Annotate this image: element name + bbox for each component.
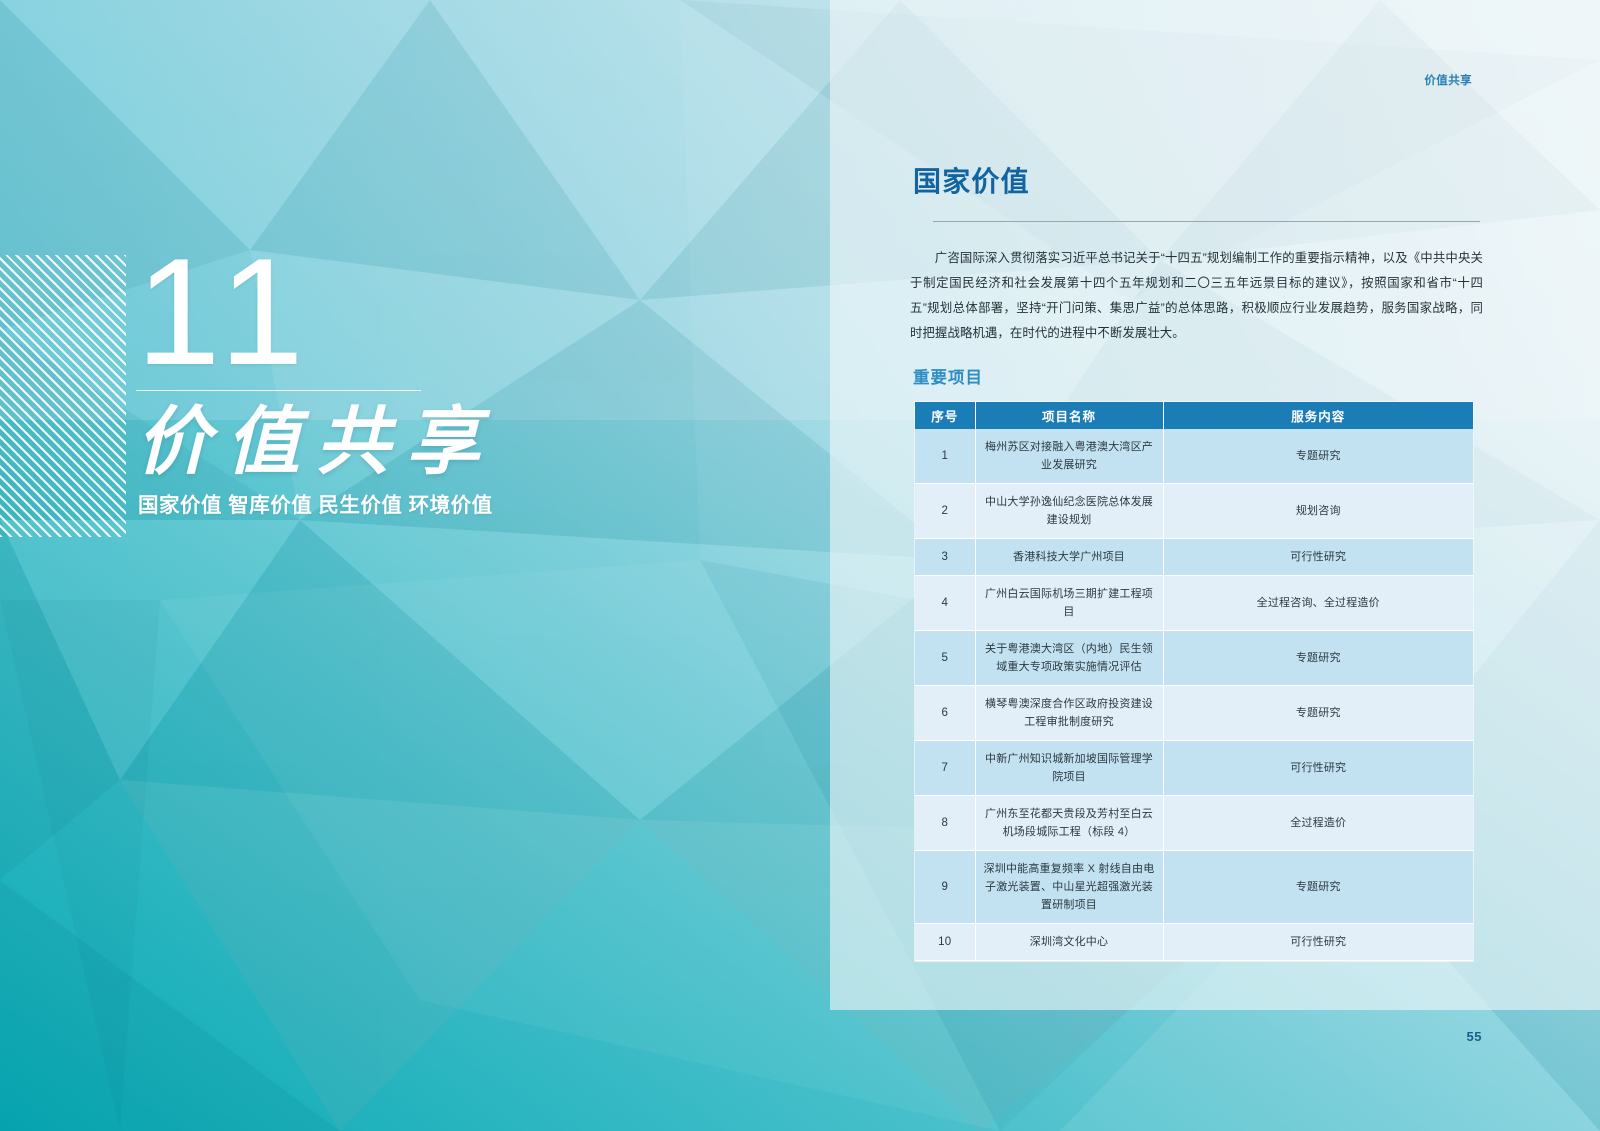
cell-no: 3 xyxy=(915,539,975,576)
cell-no: 1 xyxy=(915,429,975,484)
cell-name: 梅州苏区对接融入粤港澳大湾区产业发展研究 xyxy=(975,429,1163,484)
table-row: 3 香港科技大学广州项目 可行性研究 xyxy=(915,539,1473,576)
cell-name: 深圳湾文化中心 xyxy=(975,924,1163,961)
subsection-title: 重要项目 xyxy=(913,364,983,388)
cell-name: 中新广州知识城新加坡国际管理学院项目 xyxy=(975,741,1163,796)
cell-no: 8 xyxy=(915,796,975,851)
cell-no: 6 xyxy=(915,686,975,741)
table-row: 5 关于粤港澳大湾区（内地）民生领域重大专项政策实施情况评估 专题研究 xyxy=(915,631,1473,686)
cell-no: 7 xyxy=(915,741,975,796)
cell-name: 广州白云国际机场三期扩建工程项目 xyxy=(975,576,1163,631)
page-spread: 11 价值共享 国家价值 智库价值 民生价值 环境价值 价值共享 国家价值 广咨… xyxy=(0,0,1600,1131)
cell-service: 全过程咨询、全过程造价 xyxy=(1163,576,1473,631)
cell-no: 5 xyxy=(915,631,975,686)
diagonal-stripe-decoration xyxy=(0,255,126,537)
table-row: 6 横琴粤澳深度合作区政府投资建设工程审批制度研究 专题研究 xyxy=(915,686,1473,741)
cell-name: 香港科技大学广州项目 xyxy=(975,539,1163,576)
cell-name: 广州东至花都天贵段及芳村至白云机场段城际工程（标段 4） xyxy=(975,796,1163,851)
table-row: 4 广州白云国际机场三期扩建工程项目 全过程咨询、全过程造价 xyxy=(915,576,1473,631)
table-body: 1 梅州苏区对接融入粤港澳大湾区产业发展研究 专题研究 2 中山大学孙逸仙纪念医… xyxy=(915,429,1473,961)
table-row: 8 广州东至花都天贵段及芳村至白云机场段城际工程（标段 4） 全过程造价 xyxy=(915,796,1473,851)
page-title: 国家价值 xyxy=(913,160,1030,200)
chapter-title: 价值共享 xyxy=(136,401,552,484)
cell-no: 10 xyxy=(915,924,975,961)
cell-name: 横琴粤澳深度合作区政府投资建设工程审批制度研究 xyxy=(975,686,1163,741)
cell-service: 专题研究 xyxy=(1163,851,1473,924)
column-header-no: 序号 xyxy=(915,402,975,429)
table-row: 2 中山大学孙逸仙纪念医院总体发展建设规划 规划咨询 xyxy=(915,484,1473,539)
cell-service: 可行性研究 xyxy=(1163,924,1473,961)
table-header-row: 序号 项目名称 服务内容 xyxy=(915,402,1473,429)
cover-block: 11 价值共享 国家价值 智库价值 民生价值 环境价值 xyxy=(132,240,552,518)
column-header-name: 项目名称 xyxy=(975,402,1163,429)
cell-no: 9 xyxy=(915,851,975,924)
running-head: 价值共享 xyxy=(1424,72,1472,88)
table-row: 7 中新广州知识城新加坡国际管理学院项目 可行性研究 xyxy=(915,741,1473,796)
body-paragraph: 广咨国际深入贯彻落实习近平总书记关于“十四五”规划编制工作的重要指示精神，以及《… xyxy=(910,246,1483,346)
cell-service: 专题研究 xyxy=(1163,686,1473,741)
cell-service: 全过程造价 xyxy=(1163,796,1473,851)
cell-service: 专题研究 xyxy=(1163,429,1473,484)
chapter-subtitle: 国家价值 智库价值 民生价值 环境价值 xyxy=(138,488,552,518)
cell-service: 规划咨询 xyxy=(1163,484,1473,539)
chapter-number: 11 xyxy=(136,240,552,384)
cell-name: 中山大学孙逸仙纪念医院总体发展建设规划 xyxy=(975,484,1163,539)
cell-service: 可行性研究 xyxy=(1163,539,1473,576)
table-row: 10 深圳湾文化中心 可行性研究 xyxy=(915,924,1473,961)
title-divider xyxy=(933,221,1480,222)
cell-service: 专题研究 xyxy=(1163,631,1473,686)
cell-service: 可行性研究 xyxy=(1163,741,1473,796)
cell-no: 2 xyxy=(915,484,975,539)
cell-name: 关于粤港澳大湾区（内地）民生领域重大专项政策实施情况评估 xyxy=(975,631,1163,686)
cell-name: 深圳中能高重复频率 X 射线自由电子激光装置、中山星光超强激光装置研制项目 xyxy=(975,851,1163,924)
page-number: 55 xyxy=(1467,1029,1482,1044)
important-projects-table: 序号 项目名称 服务内容 1 梅州苏区对接融入粤港澳大湾区产业发展研究 专题研究… xyxy=(915,402,1473,961)
table-row: 9 深圳中能高重复频率 X 射线自由电子激光装置、中山星光超强激光装置研制项目 … xyxy=(915,851,1473,924)
table-row: 1 梅州苏区对接融入粤港澳大湾区产业发展研究 专题研究 xyxy=(915,429,1473,484)
column-header-service: 服务内容 xyxy=(1163,402,1473,429)
cell-no: 4 xyxy=(915,576,975,631)
